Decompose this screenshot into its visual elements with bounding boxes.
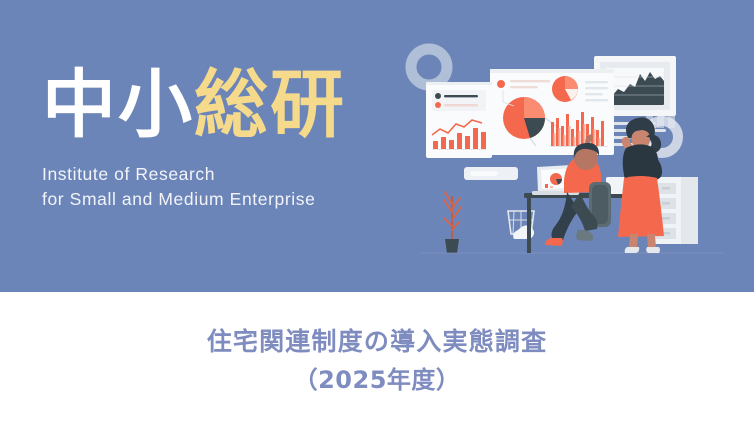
report-caption: 住宅関連制度の導入実態調査 （2025年度）	[0, 292, 754, 430]
logo-wordmark-white: 中小	[42, 62, 194, 148]
pie-chart-small	[552, 76, 578, 102]
report-title: 住宅関連制度の導入実態調査	[207, 323, 548, 362]
logo-wordmark: 中小総研	[42, 68, 392, 142]
logo-wordmark-gold: 総研	[194, 62, 346, 148]
business-data-analysis-illustration	[404, 34, 740, 259]
hero-banner: 中小総研 Institute of Research for Small and…	[0, 0, 754, 292]
potted-plant	[444, 192, 461, 253]
illustration-svg	[404, 34, 740, 259]
report-subtitle-year: （2025年度）	[294, 362, 461, 399]
bar-chart-panel	[426, 82, 492, 158]
standing-woman	[618, 117, 664, 253]
page-root: 中小総研 Institute of Research for Small and…	[0, 0, 754, 430]
logo-subtitle: Institute of Research for Small and Medi…	[42, 162, 392, 212]
logo-subtitle-line-2: for Small and Medium Enterprise	[42, 187, 392, 212]
dashboard-panel	[490, 69, 614, 155]
wall-shelf	[464, 167, 518, 180]
donut-ring-decoration	[411, 49, 447, 85]
brand-logo: 中小総研 Institute of Research for Small and…	[42, 68, 392, 212]
logo-subtitle-line-1: Institute of Research	[42, 162, 392, 187]
